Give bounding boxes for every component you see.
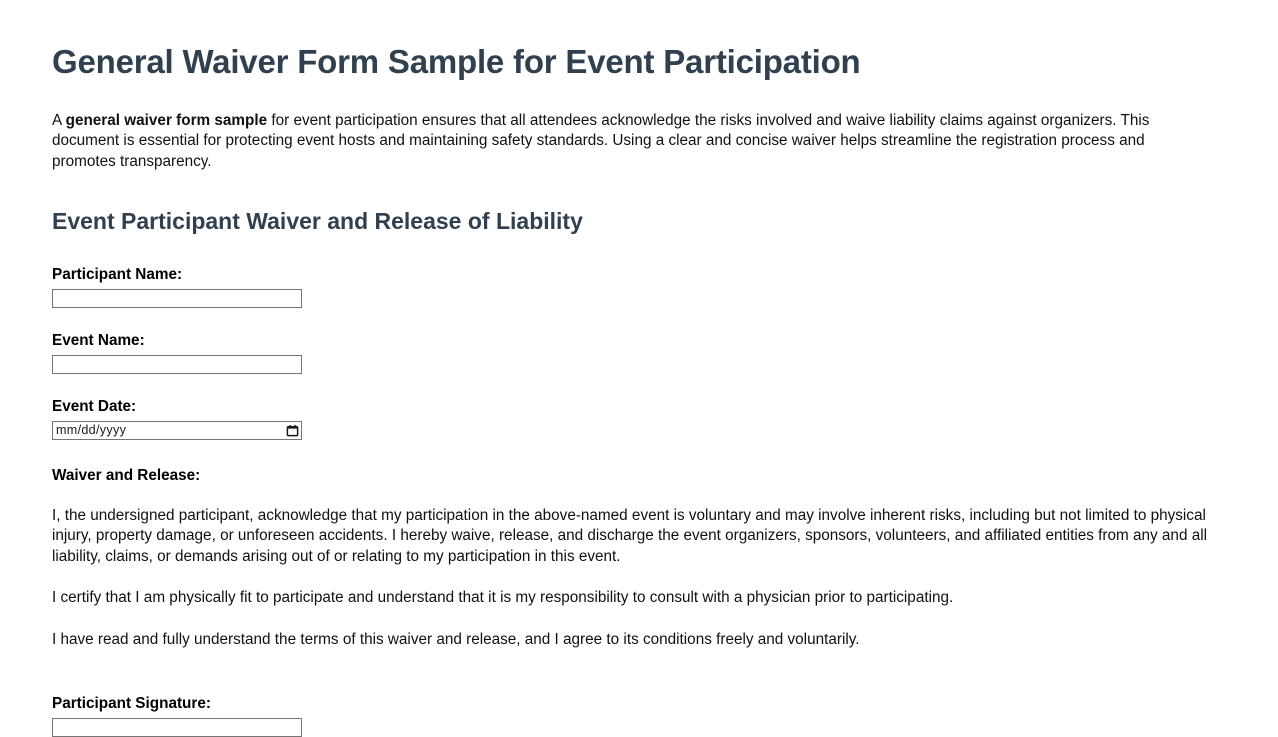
document-page: General Waiver Form Sample for Event Par…: [0, 42, 1278, 737]
waiver-paragraph-1: I, the undersigned participant, acknowle…: [52, 506, 1207, 568]
document-content: General Waiver Form Sample for Event Par…: [52, 42, 1207, 737]
field-group-participant-name: Participant Name:: [52, 266, 1207, 308]
intro-bold-phrase: general waiver form sample: [66, 112, 268, 129]
field-group-event-name: Event Name:: [52, 332, 1207, 374]
intro-lead-text: A: [52, 112, 66, 129]
event-name-input[interactable]: [52, 355, 302, 374]
calendar-icon[interactable]: [286, 424, 299, 437]
field-group-event-date: Event Date: mm/dd/yyyy: [52, 398, 1207, 440]
waiver-and-release-label: Waiver and Release:: [52, 467, 1207, 485]
participant-signature-label: Participant Signature:: [52, 695, 1207, 713]
participant-signature-input[interactable]: [52, 718, 302, 737]
participant-name-label: Participant Name:: [52, 266, 1207, 284]
event-name-label: Event Name:: [52, 332, 1207, 350]
event-date-input[interactable]: mm/dd/yyyy: [52, 421, 302, 440]
field-group-participant-signature: Participant Signature:: [52, 695, 1207, 737]
participant-name-input[interactable]: [52, 289, 302, 308]
page-title: General Waiver Form Sample for Event Par…: [52, 42, 1207, 82]
event-date-label: Event Date:: [52, 398, 1207, 416]
event-date-placeholder: mm/dd/yyyy: [56, 423, 126, 437]
intro-paragraph: A general waiver form sample for event p…: [52, 111, 1207, 173]
waiver-paragraph-2: I certify that I am physically fit to pa…: [52, 588, 1207, 609]
waiver-paragraph-3: I have read and fully understand the ter…: [52, 630, 1207, 651]
section-title: Event Participant Waiver and Release of …: [52, 208, 1207, 236]
